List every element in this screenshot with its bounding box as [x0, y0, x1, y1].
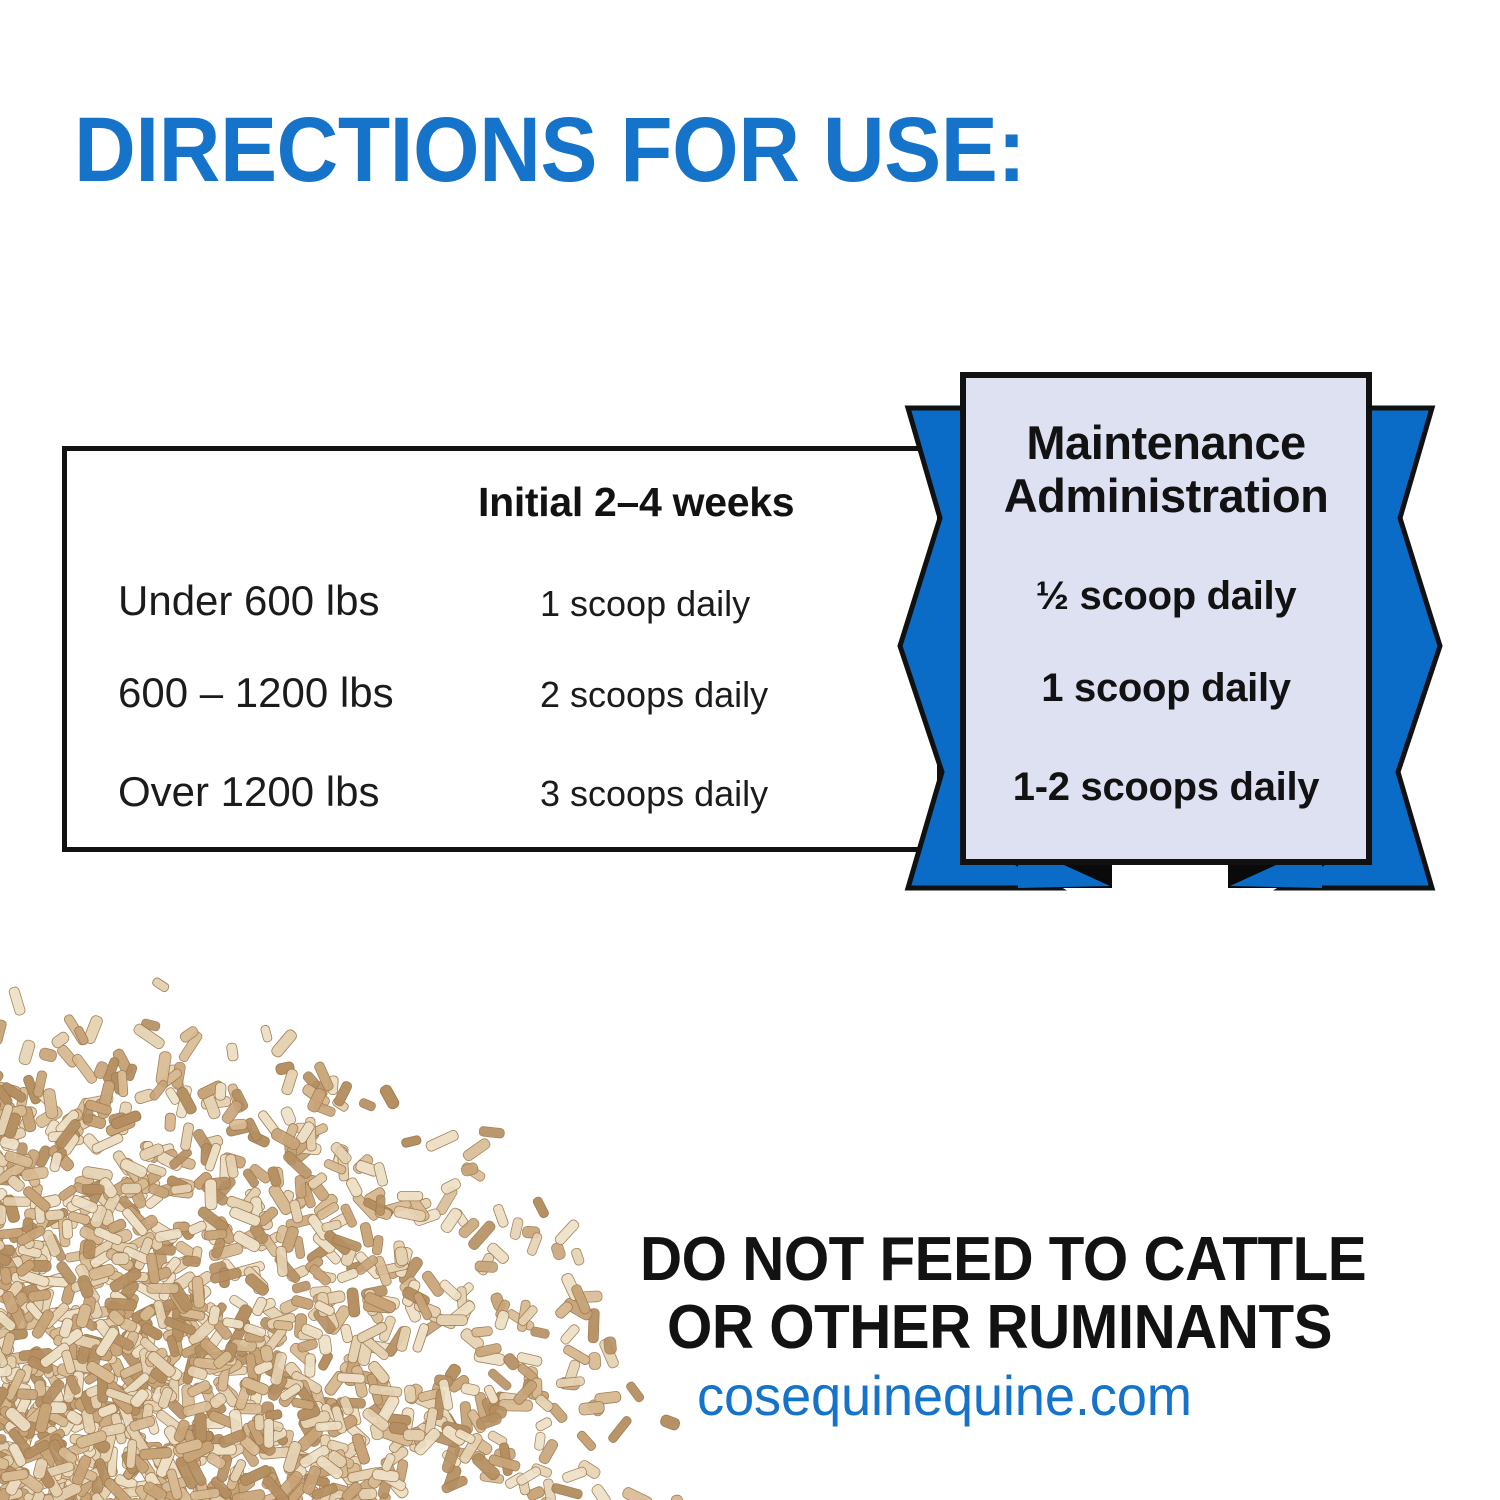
ribbon-title-line-2: Administration [963, 468, 1369, 523]
pellet-field [0, 976, 683, 1500]
page-title: DIRECTIONS FOR USE: [74, 104, 1025, 196]
warning-line-2: OR OTHER RUMINANTS [667, 1292, 1332, 1363]
table-row-weight-0: Under 600 lbs [118, 577, 380, 625]
ribbon-dose-0: ½ scoop daily [963, 574, 1369, 619]
pellets-svg [0, 930, 700, 1500]
ribbon-title-line-1: Maintenance [963, 415, 1369, 470]
table-row-initial-2: 3 scoops daily [540, 773, 768, 815]
table-row-initial-0: 1 scoop daily [540, 583, 750, 625]
column-header-initial: Initial 2–4 weeks [478, 479, 794, 526]
warning-line-1: DO NOT FEED TO CATTLE [640, 1224, 1366, 1295]
table-row-weight-1: 600 – 1200 lbs [118, 669, 394, 717]
website-url[interactable]: cosequinequine.com [697, 1363, 1192, 1428]
feed-pellets-image [0, 930, 700, 1500]
ribbon-dose-2: 1-2 scoops daily [963, 765, 1369, 810]
poster-canvas: DIRECTIONS FOR USE: [0, 0, 1500, 1500]
table-row-initial-1: 2 scoops daily [540, 674, 768, 716]
table-row-weight-2: Over 1200 lbs [118, 768, 379, 816]
ribbon-dose-1: 1 scoop daily [963, 666, 1369, 711]
